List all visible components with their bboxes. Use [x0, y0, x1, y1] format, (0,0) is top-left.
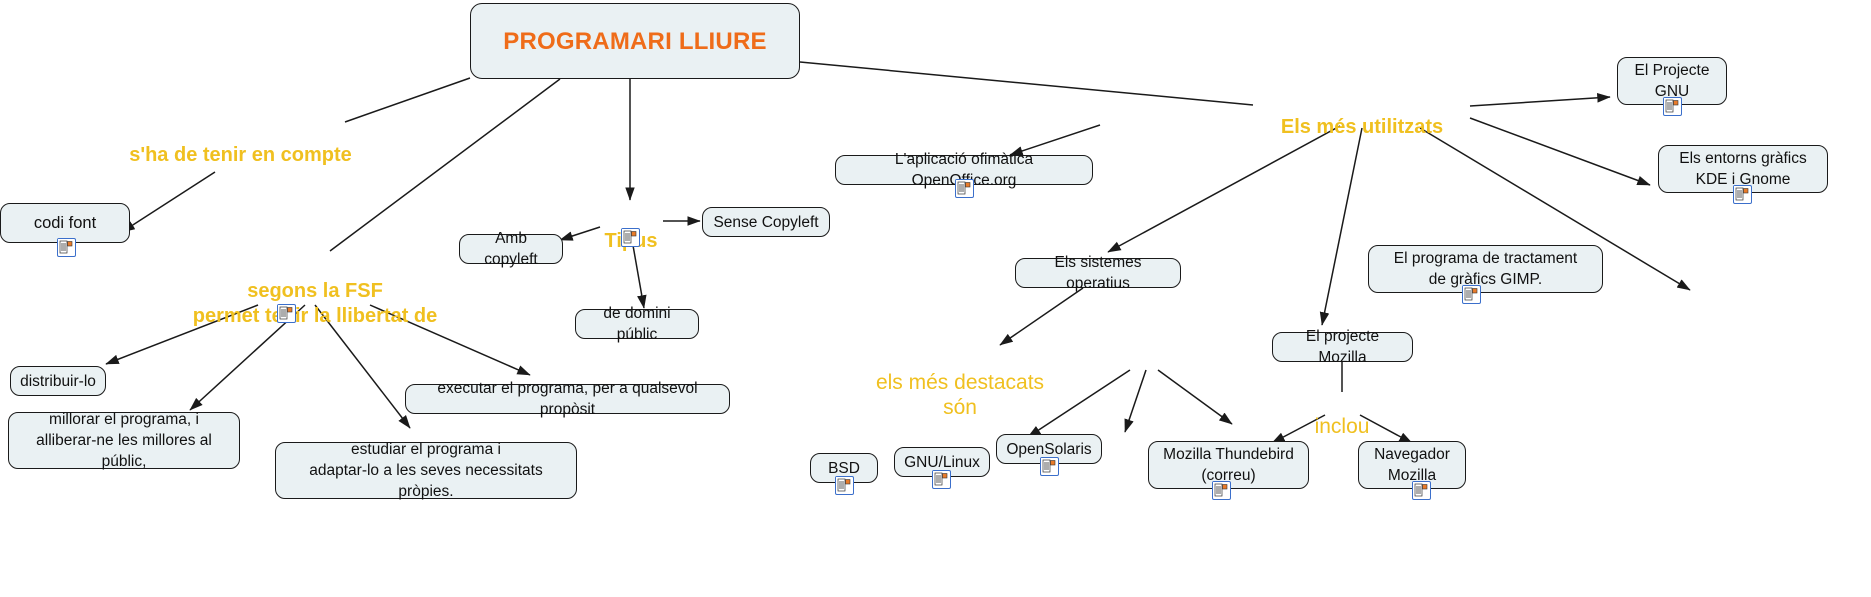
node-root-label: PROGRAMARI LLIURE [503, 31, 766, 52]
edge-destacats-gnulinux [1125, 370, 1146, 432]
note-icon[interactable] [1212, 481, 1231, 500]
node-domini-public[interactable]: de domini públic [575, 309, 699, 339]
link-label-mes-destacats-text: els més destacats són [876, 371, 1044, 419]
link-label-tenir-en-compte-text: s'ha de tenir en compte [129, 144, 352, 166]
node-sense-copyleft[interactable]: Sense Copyleft [702, 207, 830, 237]
node-domini-public-label: de domini públic [585, 303, 689, 345]
node-projecte-gnu-label: El Projecte GNU [1635, 60, 1710, 102]
node-gimp[interactable]: El programa de tractament de gràfics GIM… [1368, 245, 1603, 293]
edge-sistemes-destacats [1000, 288, 1083, 345]
node-sense-copyleft-label: Sense Copyleft [713, 212, 818, 233]
link-label-mes-utilitzats-text: Els més utilitzats [1281, 116, 1443, 138]
node-distribuir-lo[interactable]: distribuir-lo [10, 366, 106, 396]
node-projecte-mozilla[interactable]: El projecte Mozilla [1272, 332, 1413, 362]
note-icon[interactable] [1412, 481, 1431, 500]
edge-destacats-opensolaris [1158, 370, 1232, 424]
node-amb-copyleft[interactable]: Amb copyleft [459, 234, 563, 264]
link-label-tenir-en-compte: s'ha de tenir en compte [128, 118, 353, 168]
node-thundebird-label: Mozilla Thundebird (correu) [1163, 444, 1294, 486]
node-executar[interactable]: executar el programa, per a qualsevol pr… [405, 384, 730, 414]
note-icon[interactable] [1663, 97, 1682, 116]
link-label-inclou-text: inclou [1315, 415, 1370, 438]
note-icon[interactable] [57, 238, 76, 257]
edge-utilitzats-entorns [1470, 118, 1650, 185]
note-icon[interactable] [835, 476, 854, 495]
node-navegador-mozilla-label: Navegador Mozilla [1374, 444, 1450, 486]
edge-root-utilitzats [800, 62, 1253, 105]
node-millorar[interactable]: millorar el programa, i alliberar-ne les… [8, 412, 240, 469]
node-sistemes-operatius[interactable]: Els sistemes operatius [1015, 258, 1181, 288]
node-codi-font[interactable]: codi font [0, 203, 130, 243]
node-gimp-label: El programa de tractament de gràfics GIM… [1394, 248, 1578, 290]
node-sistemes-operatius-label: Els sistemes operatius [1025, 252, 1171, 294]
link-label-mes-destacats: els més destacats són [860, 345, 1060, 420]
edge-root-fsf [330, 79, 560, 251]
edge-utilitzats-mozilla [1322, 128, 1362, 325]
node-estudiar-label: estudiar el programa i adaptar-lo a les … [285, 439, 567, 502]
node-estudiar[interactable]: estudiar el programa i adaptar-lo a les … [275, 442, 577, 499]
edge-utilitzats-sistemes [1108, 126, 1340, 252]
node-amb-copyleft-label: Amb copyleft [469, 228, 553, 270]
note-icon[interactable] [621, 228, 640, 247]
concept-map-canvas: PROGRAMARI LLIURE s'ha de tenir en compt… [0, 0, 1871, 597]
link-label-segons-fsf: segons la FSF permet tenir la llibertat … [155, 254, 475, 329]
node-executar-label: executar el programa, per a qualsevol pr… [415, 378, 720, 420]
link-label-segons-fsf-text: segons la FSF permet tenir la llibertat … [193, 280, 438, 327]
edge-utilitzats-gnu [1470, 97, 1610, 106]
link-label-mes-utilitzats: Els més utilitzats [1256, 90, 1468, 140]
node-distribuir-lo-label: distribuir-lo [20, 371, 96, 392]
edge-tenir-codifont [122, 172, 215, 232]
note-icon[interactable] [955, 179, 974, 198]
note-icon[interactable] [932, 470, 951, 489]
note-icon[interactable] [277, 304, 296, 323]
node-root[interactable]: PROGRAMARI LLIURE [470, 3, 800, 79]
edge-tipus-ambcopyleft [560, 227, 600, 240]
note-icon[interactable] [1040, 457, 1059, 476]
node-entorns-grafics-label: Els entorns gràfics KDE i Gnome [1679, 148, 1807, 190]
edge-root-tenir [345, 78, 470, 122]
note-icon[interactable] [1462, 285, 1481, 304]
node-projecte-mozilla-label: El projecte Mozilla [1282, 326, 1403, 368]
link-label-inclou: inclou [1300, 389, 1384, 439]
node-codi-font-label: codi font [34, 213, 96, 234]
node-millorar-label: millorar el programa, i alliberar-ne les… [18, 409, 230, 472]
note-icon[interactable] [1733, 185, 1752, 204]
